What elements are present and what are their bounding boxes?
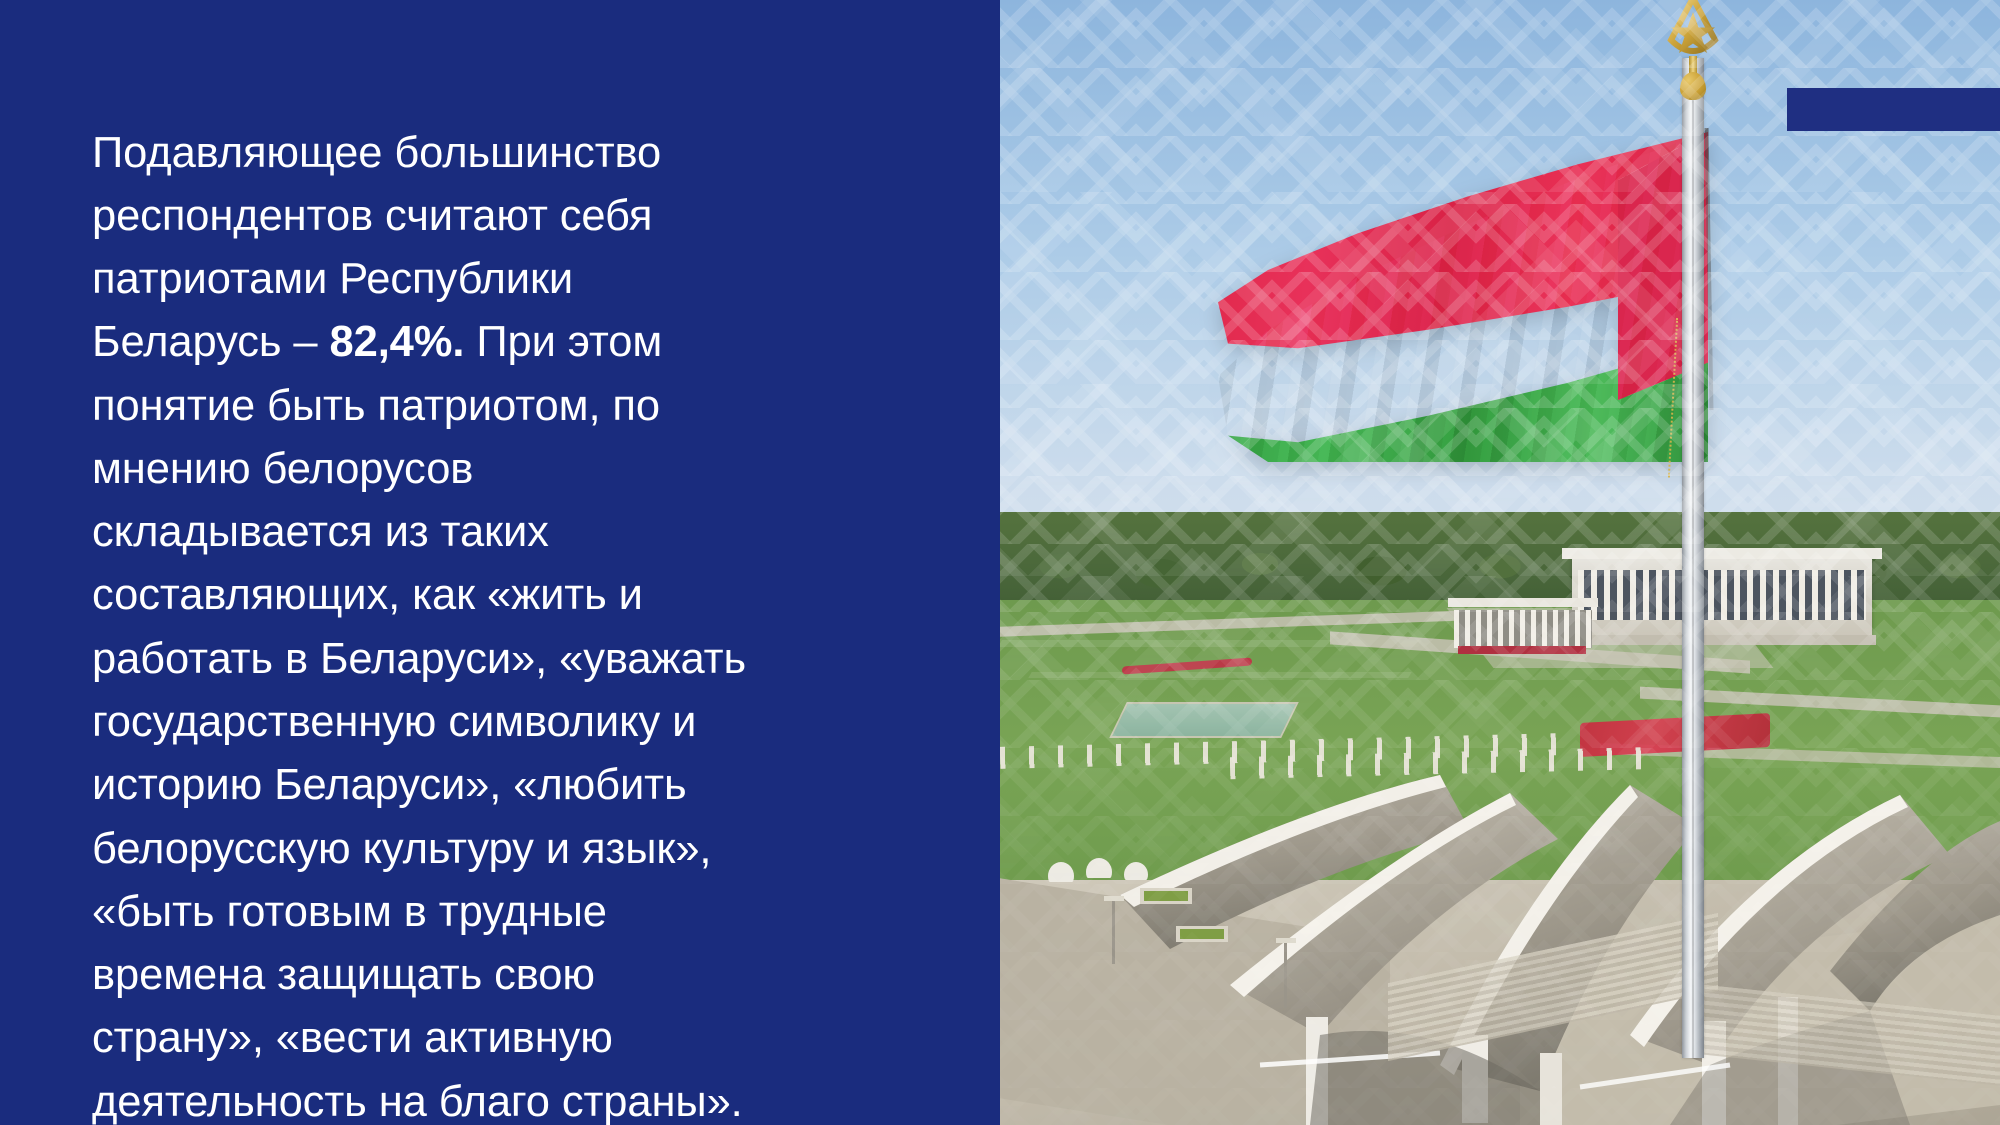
lamp-post [1112, 898, 1115, 964]
accent-bar [1787, 88, 2000, 131]
glass-pavilion [1448, 598, 1598, 660]
slide-root: Подавляющее большинство респондентов счи… [0, 0, 2000, 1125]
reflecting-pool [1109, 702, 1299, 738]
text-panel: Подавляющее большинство респондентов счи… [0, 0, 1000, 1125]
lamp-head [1104, 896, 1124, 901]
concrete-cone-2 [1086, 858, 1112, 878]
planter-box [1140, 888, 1192, 904]
planter-box-2 [1176, 926, 1228, 942]
concrete-cone [1048, 862, 1074, 882]
belarus-flag [1208, 132, 1708, 462]
body-copy: Подавляющее большинство респондентов счи… [92, 122, 752, 1125]
stat-value: 82,4%. [330, 318, 465, 366]
lamp-head-2 [1276, 938, 1296, 943]
gold-star-finial [1662, 0, 1724, 92]
lamp-post-2 [1284, 940, 1287, 1008]
palace-of-independence [1572, 556, 1872, 636]
body-copy-part-2: При этом понятие быть патриотом, по мнен… [92, 318, 758, 1125]
concrete-cone-3 [1124, 862, 1148, 880]
hero-photo [1000, 0, 2000, 1125]
